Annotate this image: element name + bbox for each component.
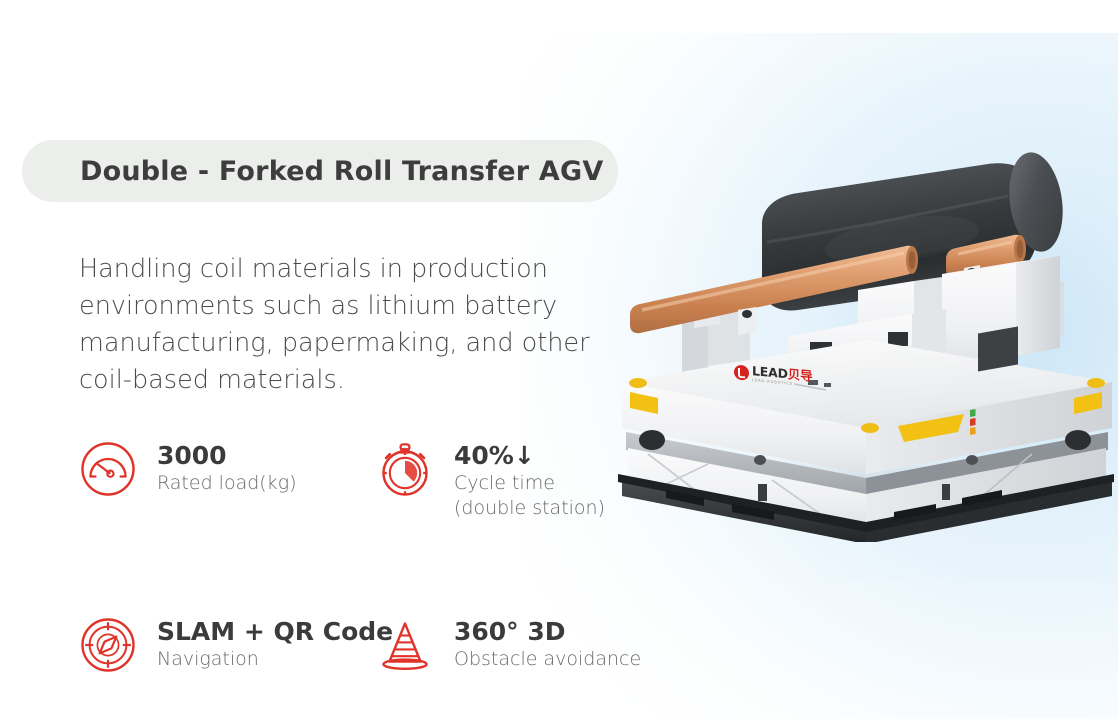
- product-slide: Double - Forked Roll Transfer AGV Handli…: [0, 0, 1118, 719]
- spec-value: 40%↓: [454, 441, 605, 471]
- spec-label: Cycle time: [454, 471, 605, 496]
- page-title: Double - Forked Roll Transfer AGV: [80, 156, 603, 187]
- spec-row-1: 3000 Rated load(kg): [79, 438, 659, 521]
- spec-label: Obstacle avoidance: [454, 647, 641, 672]
- spec-row-2: SLAM + QR Code Navigation: [79, 614, 659, 674]
- stopwatch-icon: [376, 440, 434, 498]
- description-text: Handling coil materials in production en…: [79, 251, 649, 399]
- spec-item-rated-load: 3000 Rated load(kg): [79, 438, 376, 521]
- traffic-cone-icon: [376, 616, 434, 674]
- spec-item-obstacle-avoidance: 360° 3D Obstacle avoidance: [376, 614, 656, 674]
- lead-logo-mark-icon: [734, 364, 749, 380]
- spec-body: 3000 Rated load(kg): [157, 438, 297, 496]
- product-image-agv: [612, 92, 1118, 542]
- gauge-icon: [79, 440, 137, 498]
- spec-value: 360° 3D: [454, 617, 641, 647]
- spec-list: 3000 Rated load(kg): [79, 438, 659, 674]
- spec-label-secondary: (double station): [454, 496, 605, 521]
- spec-body: SLAM + QR Code Navigation: [157, 614, 393, 672]
- spec-value: 3000: [157, 441, 297, 471]
- spec-body: 360° 3D Obstacle avoidance: [454, 614, 641, 672]
- spec-item-navigation: SLAM + QR Code Navigation: [79, 614, 376, 674]
- spec-value: SLAM + QR Code: [157, 617, 393, 647]
- compass-icon: [79, 616, 137, 674]
- title-pill: Double - Forked Roll Transfer AGV: [22, 140, 618, 202]
- spec-label: Navigation: [157, 647, 393, 672]
- spec-body: 40%↓ Cycle time (double station): [454, 438, 605, 521]
- spec-label: Rated load(kg): [157, 471, 297, 496]
